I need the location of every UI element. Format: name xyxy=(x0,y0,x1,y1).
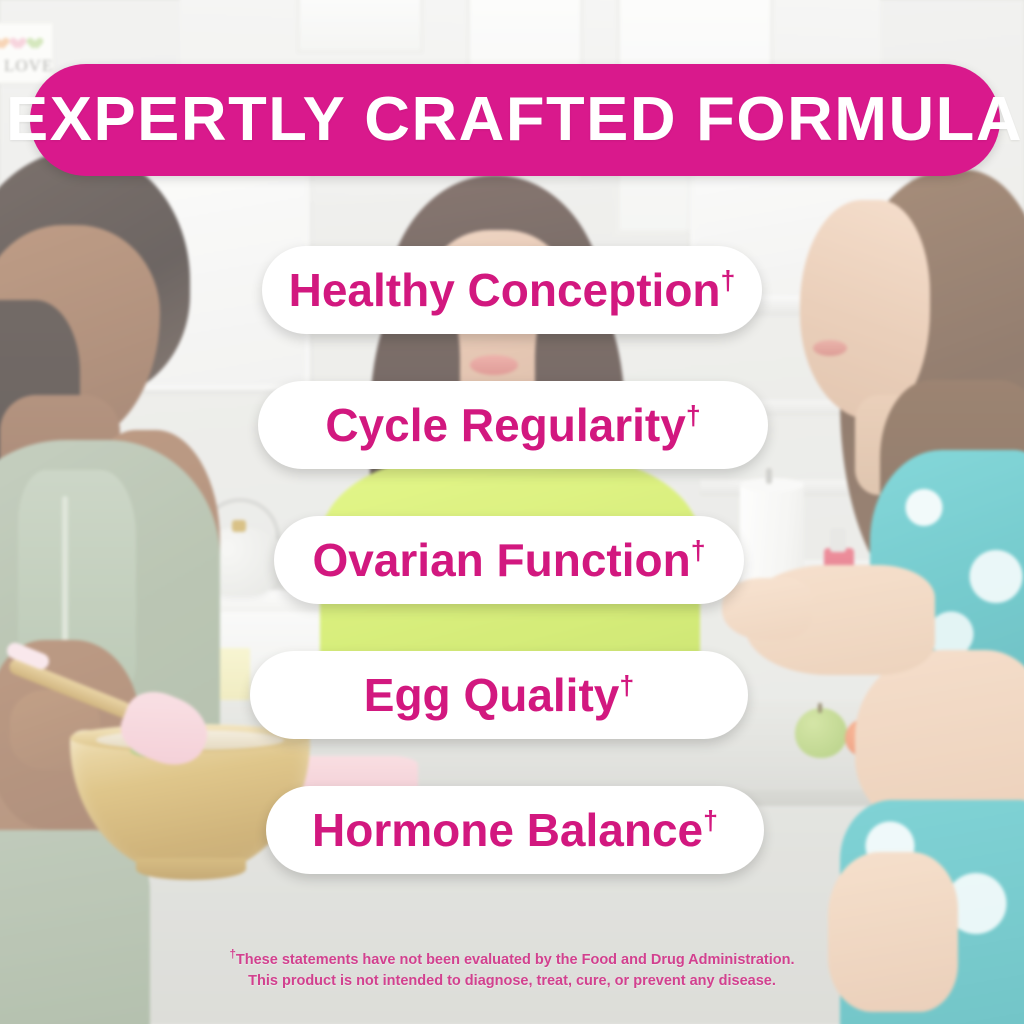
benefit-pill-hormone-balance[interactable]: Hormone Balance† xyxy=(266,786,764,874)
poster-love-text: LOVE xyxy=(4,56,53,76)
heart-icon xyxy=(0,38,9,50)
benefit-label: Cycle Regularity† xyxy=(325,402,700,448)
heart-icon xyxy=(30,38,43,50)
benefits-list: Healthy Conception† Cycle Regularity† Ov… xyxy=(0,246,1024,921)
benefit-pill-healthy-conception[interactable]: Healthy Conception† xyxy=(262,246,762,334)
fda-disclaimer: †These statements have not been evaluate… xyxy=(0,950,1024,992)
benefit-label: Healthy Conception† xyxy=(289,267,736,313)
disclaimer-line-1: †These statements have not been evaluate… xyxy=(0,950,1024,971)
dagger-marker: † xyxy=(619,671,634,701)
benefit-pill-egg-quality[interactable]: Egg Quality† xyxy=(250,651,748,739)
header-banner: EXPERTLY CRAFTED FORMULA xyxy=(30,64,1000,176)
benefit-label: Hormone Balance† xyxy=(312,807,718,853)
benefit-label: Ovarian Function† xyxy=(312,537,705,583)
benefit-label: Egg Quality† xyxy=(364,672,634,718)
dagger-marker: † xyxy=(703,806,718,836)
dagger-marker: † xyxy=(721,266,736,296)
promo-graphic: LOVE xyxy=(0,0,1024,1024)
disclaimer-line-2: This product is not intended to diagnose… xyxy=(0,971,1024,992)
dagger-marker: † xyxy=(691,536,706,566)
dagger-marker: † xyxy=(686,401,701,431)
benefit-pill-ovarian-function[interactable]: Ovarian Function† xyxy=(274,516,744,604)
benefit-pill-cycle-regularity[interactable]: Cycle Regularity† xyxy=(258,381,768,469)
heart-icons xyxy=(0,38,43,50)
window-a xyxy=(300,0,420,50)
heart-icon xyxy=(13,38,26,50)
page-title: EXPERTLY CRAFTED FORMULA xyxy=(6,89,1023,151)
